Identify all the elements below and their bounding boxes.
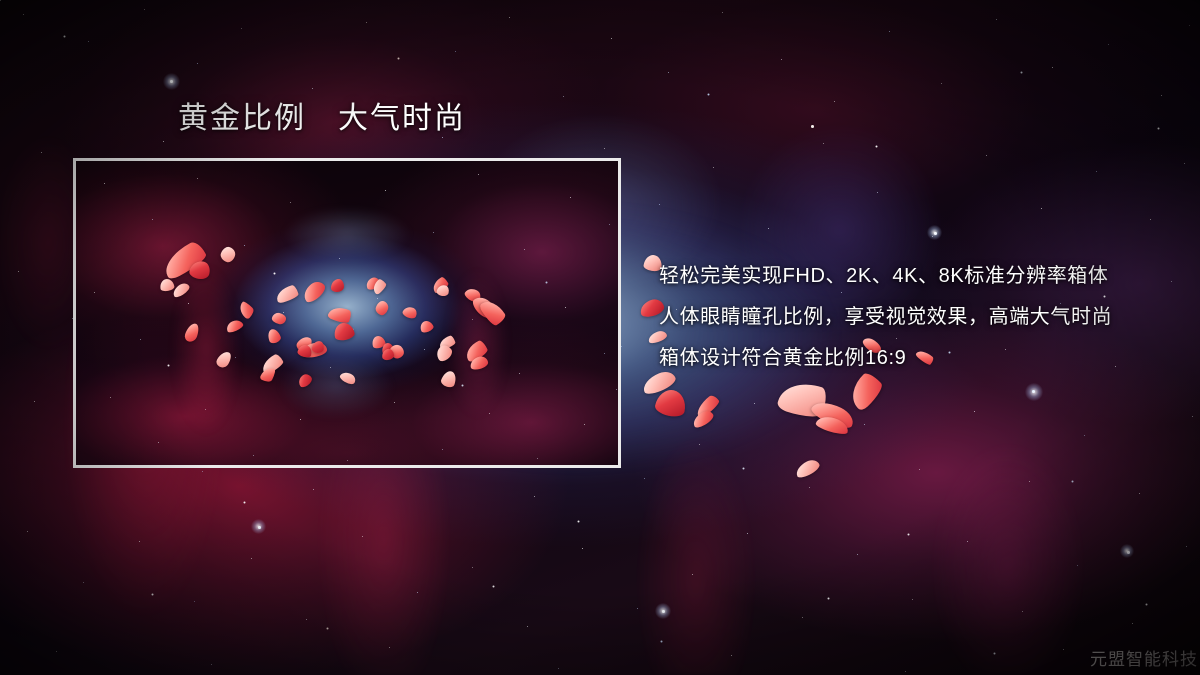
petal <box>690 408 715 429</box>
feature-line-2: 人体眼睛瞳孔比例，享受视觉效果，高端大气时尚 <box>659 297 1159 338</box>
watermark: 元盟智能科技 <box>1090 645 1198 670</box>
petal <box>693 393 721 419</box>
star-glow <box>655 603 671 619</box>
stars-bright <box>0 0 1 1</box>
preview-image-content <box>76 161 618 465</box>
feature-line-1: 轻松完美实现FHD、2K、4K、8K标准分辨率箱体 <box>659 256 1159 297</box>
star-glow <box>927 225 942 240</box>
star-glow <box>251 519 266 534</box>
petal <box>809 396 857 432</box>
preview-nebula-wisps <box>76 161 618 465</box>
stars-small <box>0 0 1 1</box>
page-title: 黄金比例 大气时尚 <box>178 101 466 137</box>
star-glow <box>1025 383 1043 401</box>
presentation-slide: 黄金比例 大气时尚 轻松完美实现FHD、2K、4K、8K标准分辨率箱体 人体眼睛… <box>0 0 1200 675</box>
preview-starfield <box>76 161 77 162</box>
petal <box>815 414 851 437</box>
framed-preview-image[interactable] <box>73 158 621 468</box>
feature-line-3: 箱体设计符合黄金比例16:9 <box>659 338 1159 379</box>
star-glow <box>1120 544 1134 558</box>
petal <box>654 387 689 419</box>
petal <box>793 457 821 480</box>
stars-medium <box>0 0 1 1</box>
star-glow <box>163 73 180 90</box>
petal <box>776 376 830 423</box>
feature-list: 轻松完美实现FHD、2K、4K、8K标准分辨率箱体 人体眼睛瞳孔比例，享受视觉效… <box>659 256 1159 379</box>
